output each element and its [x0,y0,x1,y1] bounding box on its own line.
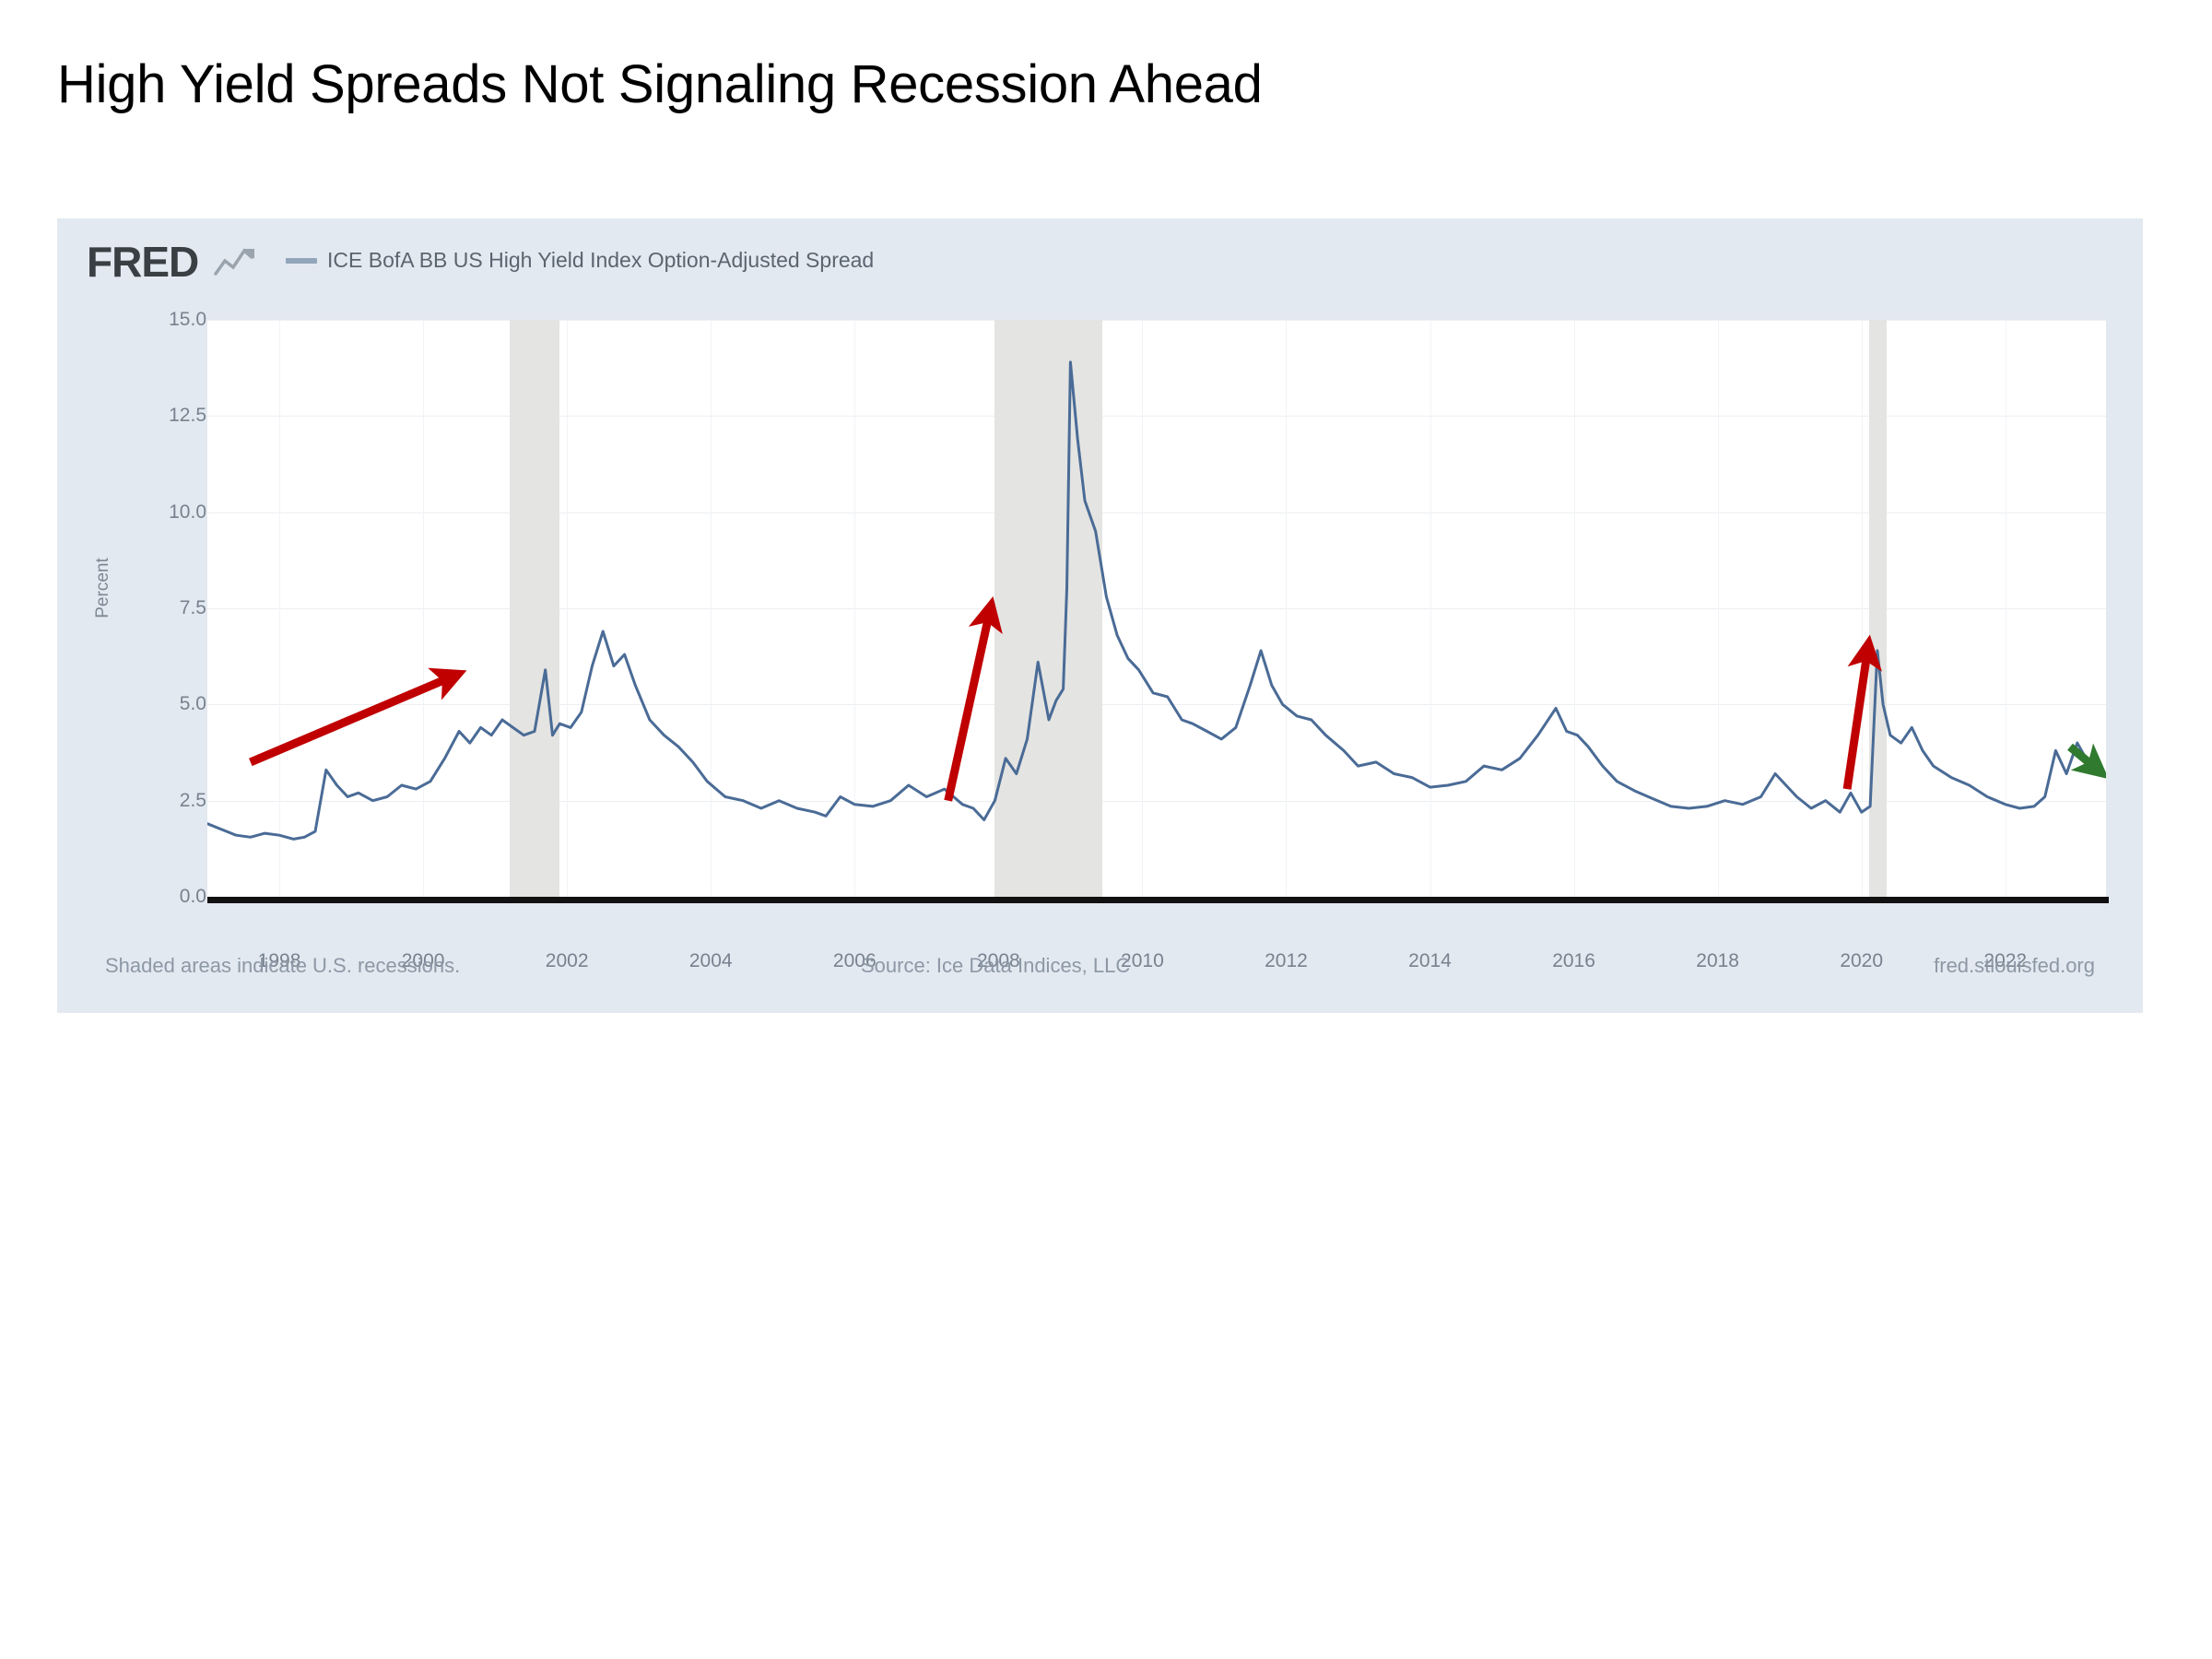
y-tick-label: 2.5 [87,790,206,812]
series-polyline [207,362,2099,840]
recession-note: Shaded areas indicate U.S. recessions. [105,954,460,978]
page-title: High Yield Spreads Not Signaling Recessi… [57,53,1263,115]
y-tick-label: 5.0 [87,693,206,715]
legend-label: ICE BofA BB US High Yield Index Option-A… [327,248,874,273]
fred-logo: FRED [87,237,198,287]
chart-footer: Shaded areas indicate U.S. recessions. S… [57,954,2143,982]
y-tick-label: 15.0 [87,309,206,331]
source-note: Source: Ice Data Indices, LLC [861,954,1130,978]
fred-chart-icon [214,246,256,277]
y-axis-title: Percent [93,514,113,662]
legend-color-swatch [286,258,317,264]
y-tick-label: 0.0 [87,886,206,908]
fred-url-note[interactable]: fred.stlouisfed.org [1934,954,2095,978]
y-tick-label: 12.5 [87,405,206,427]
y-tick-label: 10.0 [87,501,206,524]
x-axis-baseline [207,897,2109,903]
y-tick-label: 7.5 [87,597,206,619]
chart-legend: ICE BofA BB US High Yield Index Option-A… [286,248,874,273]
fred-chart-header: FRED ICE BofA BB US High Yield Index Opt… [57,218,2143,301]
series-line-chart [207,320,2106,897]
plot-wrapper: Percent 0.02.55.07.510.012.515.0 1998200… [57,301,2143,928]
plot-area [207,320,2106,897]
fred-chart-panel: FRED ICE BofA BB US High Yield Index Opt… [57,218,2143,1013]
